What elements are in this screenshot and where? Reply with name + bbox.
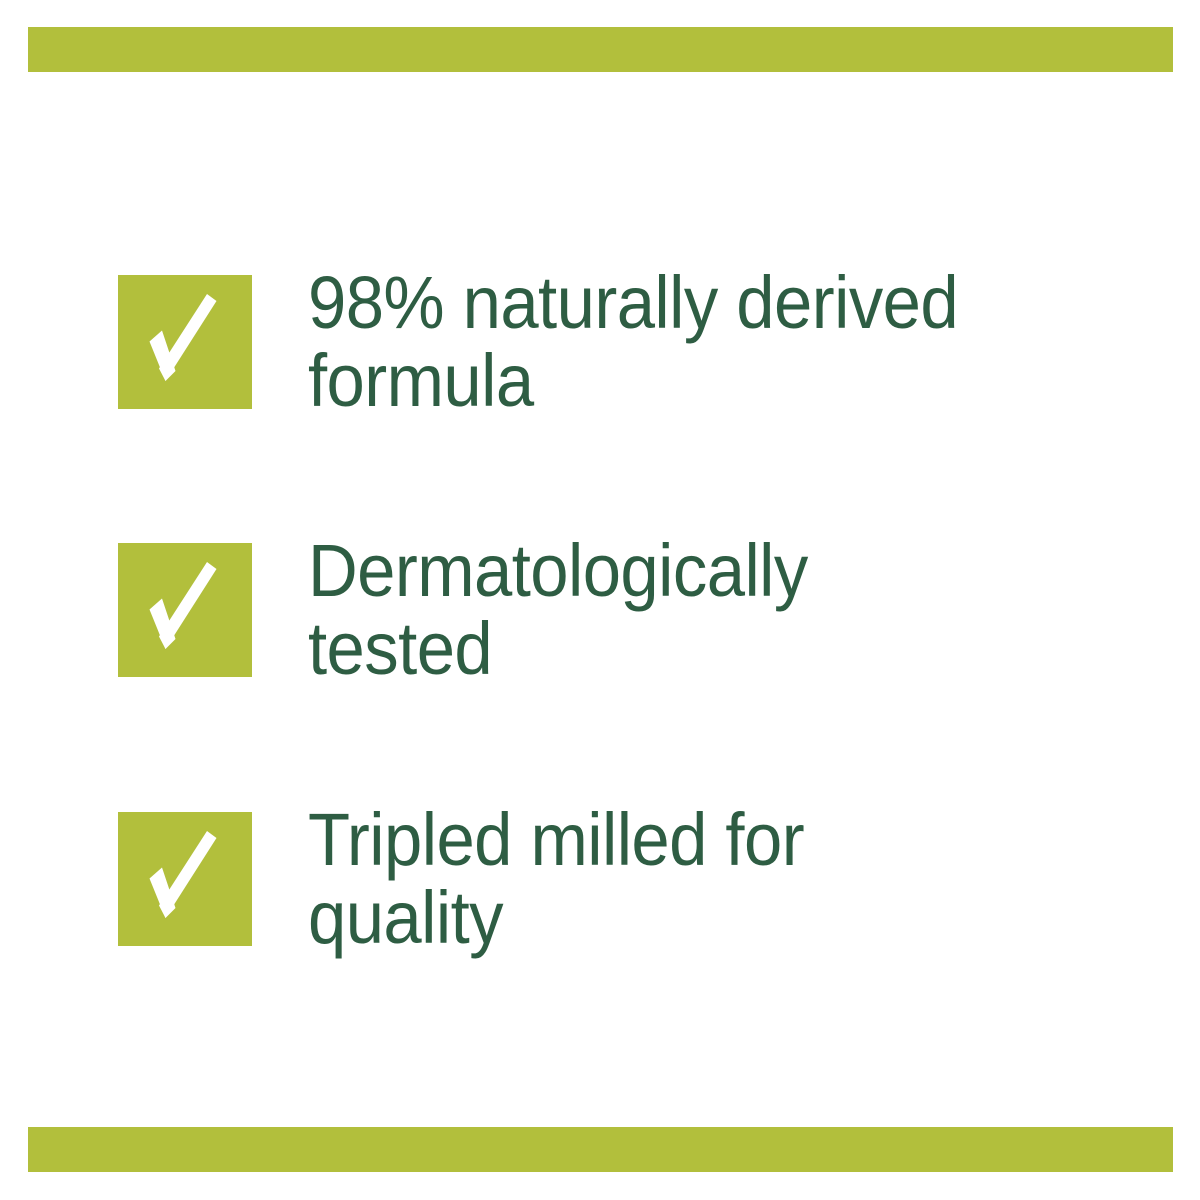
check-badge — [118, 543, 252, 677]
check-icon — [118, 275, 252, 409]
check-icon — [118, 812, 252, 946]
feature-row: Dermatologically tested — [118, 543, 1118, 688]
feature-text: Dermatologically tested — [308, 532, 1052, 688]
check-badge — [118, 812, 252, 946]
bottom-rule — [28, 1127, 1173, 1172]
feature-text: 98% naturally derived formula — [308, 264, 1052, 420]
check-badge — [118, 275, 252, 409]
check-icon — [118, 543, 252, 677]
feature-text: Tripled milled for quality — [308, 801, 1052, 957]
feature-row: 98% naturally derived formula — [118, 275, 1118, 420]
feature-list: 98% naturally derived formula Dermatolog… — [0, 0, 1200, 1200]
feature-row: Tripled milled for quality — [118, 812, 1118, 957]
benefits-callout-canvas: 98% naturally derived formula Dermatolog… — [0, 0, 1200, 1200]
